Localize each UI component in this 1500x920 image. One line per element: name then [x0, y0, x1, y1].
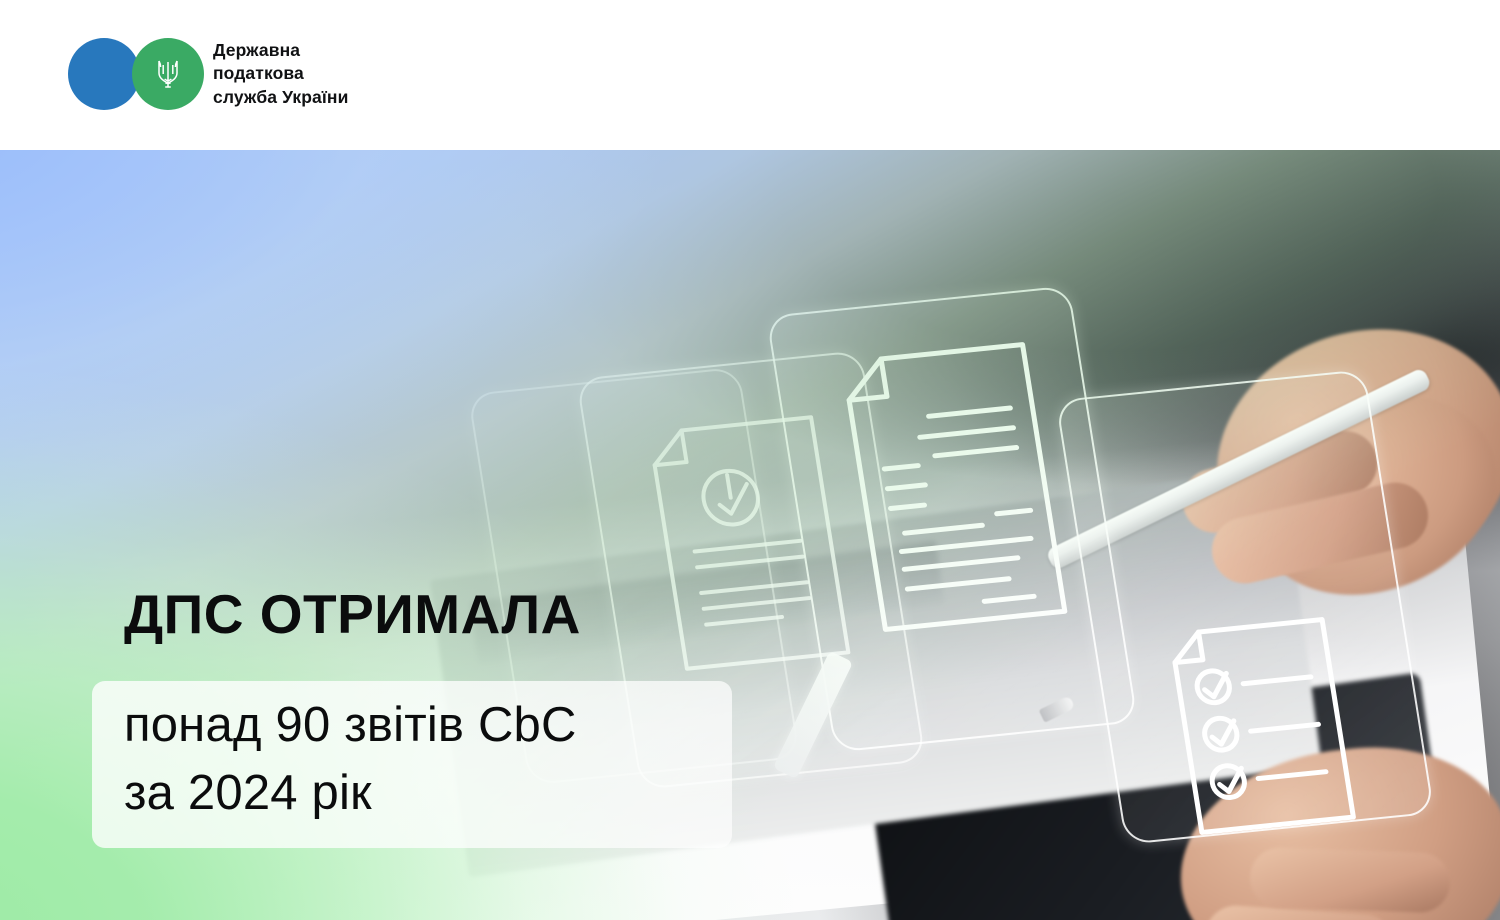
agency-logo[interactable]: Державна податкова служба України [68, 34, 348, 114]
logo-circle-green-icon [132, 38, 204, 110]
logo-circle-blue-icon [68, 38, 140, 110]
agency-name: Державна податкова служба України [213, 39, 348, 109]
agency-name-line-2: податкова [213, 62, 348, 85]
page-subtitle-line-2: за 2024 рік [124, 759, 577, 827]
page-title: ДПС ОТРИМАЛА [124, 587, 581, 642]
agency-name-line-3: служба України [213, 86, 348, 109]
agency-name-line-1: Державна [213, 39, 348, 62]
page-subtitle-line-1: понад 90 звітів CbC [124, 691, 577, 759]
ukrainian-trident-icon [153, 56, 183, 92]
logo-marks [68, 34, 203, 114]
hero-banner: ДПС ОТРИМАЛА понад 90 звітів CbC за 2024… [0, 150, 1500, 920]
site-header: Державна податкова служба України [0, 0, 1500, 150]
promo-banner: Державна податкова служба України [0, 0, 1500, 920]
page-subtitle: понад 90 звітів CbC за 2024 рік [124, 691, 577, 827]
